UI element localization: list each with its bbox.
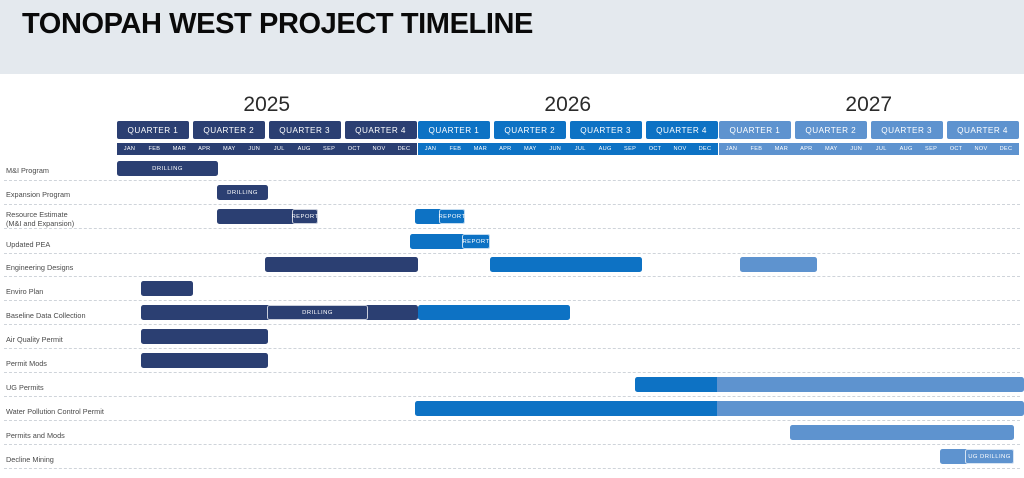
- row-separator-8: [4, 372, 1020, 373]
- month-cell-2025-APR: APR: [192, 143, 217, 155]
- quarter-cell-2025-q2[interactable]: QUARTER 2: [193, 121, 265, 139]
- gantt-bar-9-1[interactable]: [717, 377, 1024, 392]
- year-header-row: 202520262027: [0, 93, 1024, 121]
- month-cell-2026-FEB: FEB: [443, 143, 468, 155]
- gantt-bar-segment-2-0-0[interactable]: REPORT: [292, 209, 318, 224]
- month-cell-2025-DEC: DEC: [391, 143, 416, 155]
- row-separator-11: [4, 444, 1020, 445]
- month-cell-2025-NOV: NOV: [367, 143, 392, 155]
- row-separator-1: [4, 204, 1020, 205]
- gantt-bar-label: DRILLING: [117, 166, 218, 172]
- month-cell-2026-JAN: JAN: [418, 143, 443, 155]
- month-cell-2026-NOV: NOV: [668, 143, 693, 155]
- gantt-bar-2-1[interactable]: REPORT: [415, 209, 465, 224]
- gantt-bar-4-2[interactable]: [740, 257, 817, 272]
- gantt-bar-6-1[interactable]: [418, 305, 570, 320]
- quarter-cell-2025-q3[interactable]: QUARTER 3: [269, 121, 341, 139]
- gantt-bar-segment-3-0-0[interactable]: REPORT: [462, 234, 490, 249]
- month-cell-2025-FEB: FEB: [142, 143, 167, 155]
- gantt-bar-4-0[interactable]: [265, 257, 418, 272]
- quarter-cell-2027-q1[interactable]: QUARTER 1: [719, 121, 791, 139]
- quarter-cell-2027-q3[interactable]: QUARTER 3: [871, 121, 943, 139]
- row-label-0: M&I Program: [6, 166, 49, 175]
- page-title: TONOPAH WEST PROJECT TIMELINE: [22, 8, 533, 41]
- row-label-4: Engineering Designs: [6, 263, 73, 272]
- month-cell-2025-JUN: JUN: [242, 143, 267, 155]
- gantt-bar-5-0[interactable]: [141, 281, 193, 296]
- year-label-2025: 2025: [117, 93, 417, 117]
- quarter-cell-2026-q2[interactable]: QUARTER 2: [494, 121, 566, 139]
- month-cell-2027-APR: APR: [794, 143, 819, 155]
- gantt-bar-0-0[interactable]: DRILLING: [117, 161, 218, 176]
- month-cell-2026-JUN: JUN: [543, 143, 568, 155]
- gantt-rows: M&I ProgramDRILLINGExpansion ProgramDRIL…: [0, 158, 1024, 476]
- row-label-2: Resource Estimate (M&I and Expansion): [6, 210, 74, 228]
- month-cell-2026-OCT: OCT: [643, 143, 668, 155]
- quarter-cell-2025-q4[interactable]: QUARTER 4: [345, 121, 417, 139]
- gantt-bar-segment-6-0-0[interactable]: DRILLING: [267, 305, 368, 320]
- month-cell-2027-JAN: JAN: [719, 143, 744, 155]
- quarter-header-row: QUARTER 1QUARTER 2QUARTER 3QUARTER 4QUAR…: [0, 121, 1024, 140]
- month-cell-2025-OCT: OCT: [342, 143, 367, 155]
- month-cell-2027-FEB: FEB: [744, 143, 769, 155]
- month-cell-2027-JUN: JUN: [844, 143, 869, 155]
- year-label-2027: 2027: [719, 93, 1019, 117]
- row-label-5: Enviro Plan: [6, 287, 43, 296]
- row-separator-2: [4, 228, 1020, 229]
- row-separator-6: [4, 324, 1020, 325]
- month-cell-2027-SEP: SEP: [919, 143, 944, 155]
- gantt-bar-segment-2-1-0[interactable]: REPORT: [439, 209, 465, 224]
- row-separator-9: [4, 396, 1020, 397]
- row-label-12: Decline Mining: [6, 455, 54, 464]
- quarter-cell-2025-q1[interactable]: QUARTER 1: [117, 121, 189, 139]
- gantt-bar-10-0[interactable]: [415, 401, 717, 416]
- gantt-chart-page: TONOPAH WEST PROJECT TIMELINE 2025202620…: [0, 0, 1024, 478]
- row-separator-10: [4, 420, 1020, 421]
- gantt-bar-8-0[interactable]: [141, 353, 268, 368]
- row-label-10: Water Pollution Control Permit: [6, 407, 104, 416]
- month-block-2027: JANFEBMARAPRMAYJUNJULAUGSEPOCTNOVDEC: [719, 143, 1019, 155]
- month-cell-2027-NOV: NOV: [969, 143, 994, 155]
- row-separator-0: [4, 180, 1020, 181]
- row-label-3: Updated PEA: [6, 240, 50, 249]
- year-label-2026: 2026: [418, 93, 718, 117]
- gantt-bar-11-0[interactable]: [790, 425, 1014, 440]
- month-cell-2027-AUG: AUG: [894, 143, 919, 155]
- month-cell-2025-SEP: SEP: [317, 143, 342, 155]
- gantt-bar-7-0[interactable]: [141, 329, 268, 344]
- row-separator-12: [4, 468, 1020, 469]
- month-cell-2026-MAR: MAR: [468, 143, 493, 155]
- gantt-bar-9-0[interactable]: [635, 377, 717, 392]
- title-band: TONOPAH WEST PROJECT TIMELINE: [0, 0, 1024, 74]
- gantt-bar-segment-12-0-0[interactable]: UG DRILLING: [965, 449, 1014, 464]
- month-cell-2027-MAY: MAY: [819, 143, 844, 155]
- month-header-row: JANFEBMARAPRMAYJUNJULAUGSEPOCTNOVDECJANF…: [0, 143, 1024, 155]
- quarter-cell-2026-q4[interactable]: QUARTER 4: [646, 121, 718, 139]
- row-label-8: Permit Mods: [6, 359, 47, 368]
- month-cell-2025-JAN: JAN: [117, 143, 142, 155]
- row-label-7: Air Quality Permit: [6, 335, 63, 344]
- row-separator-3: [4, 253, 1020, 254]
- gantt-bar-12-0[interactable]: UG DRILLING: [940, 449, 1014, 464]
- row-label-1: Expansion Program: [6, 190, 70, 199]
- quarter-cell-2027-q4[interactable]: QUARTER 4: [947, 121, 1019, 139]
- month-cell-2026-AUG: AUG: [593, 143, 618, 155]
- gantt-bar-6-0[interactable]: DRILLING: [141, 305, 418, 320]
- month-block-2025: JANFEBMARAPRMAYJUNJULAUGSEPOCTNOVDEC: [117, 143, 417, 155]
- gantt-bar-1-0[interactable]: DRILLING: [217, 185, 268, 200]
- month-cell-2026-JUL: JUL: [568, 143, 593, 155]
- month-block-2026: JANFEBMARAPRMAYJUNJULAUGSEPOCTNOVDEC: [418, 143, 718, 155]
- month-cell-2026-DEC: DEC: [692, 143, 717, 155]
- gantt-bar-10-1[interactable]: [717, 401, 1024, 416]
- month-cell-2025-JUL: JUL: [267, 143, 292, 155]
- month-cell-2026-SEP: SEP: [618, 143, 643, 155]
- gantt-bar-3-0[interactable]: REPORT: [410, 234, 490, 249]
- month-cell-2025-AUG: AUG: [292, 143, 317, 155]
- quarter-cell-2026-q1[interactable]: QUARTER 1: [418, 121, 490, 139]
- row-separator-4: [4, 276, 1020, 277]
- month-cell-2026-MAY: MAY: [518, 143, 543, 155]
- row-separator-5: [4, 300, 1020, 301]
- month-cell-2027-DEC: DEC: [993, 143, 1018, 155]
- gantt-bar-2-0[interactable]: REPORT: [217, 209, 318, 224]
- month-cell-2027-MAR: MAR: [769, 143, 794, 155]
- row-separator-7: [4, 348, 1020, 349]
- row-label-11: Permits and Mods: [6, 431, 65, 440]
- quarter-cell-2026-q3[interactable]: QUARTER 3: [570, 121, 642, 139]
- gantt-bar-4-1[interactable]: [490, 257, 642, 272]
- row-label-6: Baseline Data Collection: [6, 311, 86, 320]
- month-cell-2026-APR: APR: [493, 143, 518, 155]
- row-label-9: UG Permits: [6, 383, 44, 392]
- gantt-bar-label: DRILLING: [217, 190, 268, 196]
- quarter-cell-2027-q2[interactable]: QUARTER 2: [795, 121, 867, 139]
- month-cell-2027-OCT: OCT: [944, 143, 969, 155]
- month-cell-2025-MAR: MAR: [167, 143, 192, 155]
- month-cell-2025-MAY: MAY: [217, 143, 242, 155]
- month-cell-2027-JUL: JUL: [869, 143, 894, 155]
